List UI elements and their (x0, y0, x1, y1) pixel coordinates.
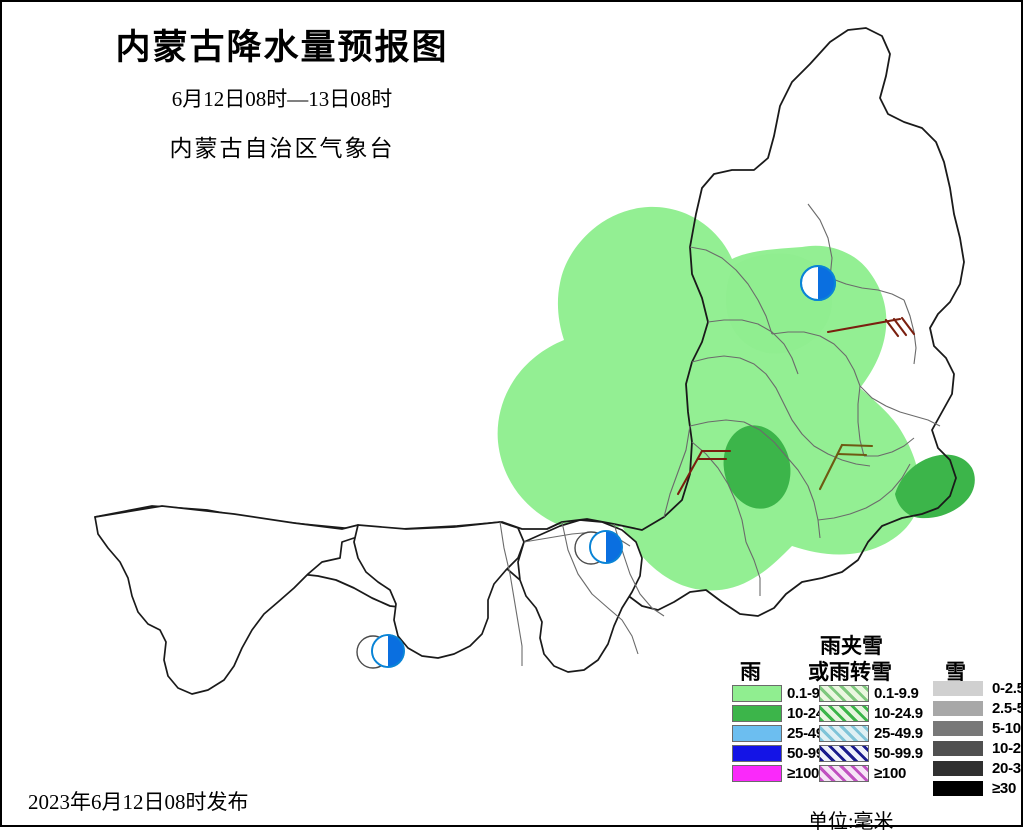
legend-item: 10-20 (933, 740, 1023, 757)
legend-item: 20-30 (933, 760, 1023, 777)
issuing-agency: 内蒙古自治区气象台 (2, 129, 562, 163)
legend-item: 50-99.9 (819, 744, 923, 763)
legend-swatch-rain (732, 705, 782, 722)
legend: 雨 雨夹雪 或雨转雪 雪 0.1-9.9 10-24.9 25-49.9 50-… (728, 628, 1018, 824)
weather-map-page: 内蒙古降水量预报图 6月12日08时—13日08时 内蒙古自治区气象台 2023… (0, 0, 1023, 827)
legend-item: 2.5-5 (933, 700, 1023, 717)
legend-swatch-sleet (819, 705, 869, 722)
legend-label: 20-30 (992, 760, 1023, 777)
legend-label: ≥100 (787, 765, 819, 782)
legend-swatch-sleet (819, 745, 869, 762)
legend-item: 0.1-9.9 (819, 684, 923, 703)
title-block: 内蒙古降水量预报图 6月12日08时—13日08时 内蒙古自治区气象台 (2, 30, 562, 163)
legend-swatch-rain (732, 685, 782, 702)
legend-header-rain: 雨 (740, 656, 761, 686)
legend-swatch-snow (933, 701, 983, 716)
station-symbol-rain-snow (357, 635, 404, 668)
legend-item: ≥30 (933, 780, 1023, 797)
legend-item: 25-49.9 (819, 724, 923, 743)
legend-swatch-snow (933, 741, 983, 756)
legend-swatch-snow (933, 721, 983, 736)
legend-item: 5-10 (933, 720, 1023, 737)
legend-label: ≥100 (874, 765, 906, 782)
legend-label: 10-20 (992, 740, 1023, 757)
legend-label: 25-49.9 (874, 725, 923, 742)
legend-column-sleet: 0.1-9.9 10-24.9 25-49.9 50-99.9 ≥100 (819, 684, 923, 784)
legend-label: 10-24.9 (874, 705, 923, 722)
legend-label: 50-99.9 (874, 745, 923, 762)
issue-timestamp: 2023年6月12日08时发布 (28, 786, 249, 816)
page-title: 内蒙古降水量预报图 (2, 30, 562, 65)
legend-swatch-snow (933, 681, 983, 696)
legend-swatch-rain (732, 745, 782, 762)
forecast-period: 6月12日08时—13日08时 (2, 83, 562, 113)
legend-header-sleet-line2: 或雨转雪 (808, 656, 892, 686)
legend-label: 2.5-5 (992, 700, 1023, 717)
legend-unit-label: 单位:毫米 (808, 805, 894, 834)
legend-label: 0.1-9.9 (874, 685, 919, 702)
legend-item: 0-2.5 (933, 680, 1023, 697)
legend-label: 5-10 (992, 720, 1021, 737)
station-symbol-rain-snow (801, 266, 835, 300)
legend-label: ≥30 (992, 780, 1016, 797)
legend-label: 0-2.5 (992, 680, 1023, 697)
legend-swatch-snow (933, 781, 983, 796)
station-symbol-rain-snow (575, 531, 622, 564)
legend-item: ≥100 (819, 764, 923, 783)
legend-swatch-sleet (819, 765, 869, 782)
legend-swatch-rain (732, 765, 782, 782)
legend-swatch-sleet (819, 685, 869, 702)
legend-column-snow: 0-2.5 2.5-5 5-10 10-20 20-30 ≥30 (933, 680, 1023, 800)
legend-item: 10-24.9 (819, 704, 923, 723)
legend-swatch-snow (933, 761, 983, 776)
legend-swatch-sleet (819, 725, 869, 742)
legend-swatch-rain (732, 725, 782, 742)
